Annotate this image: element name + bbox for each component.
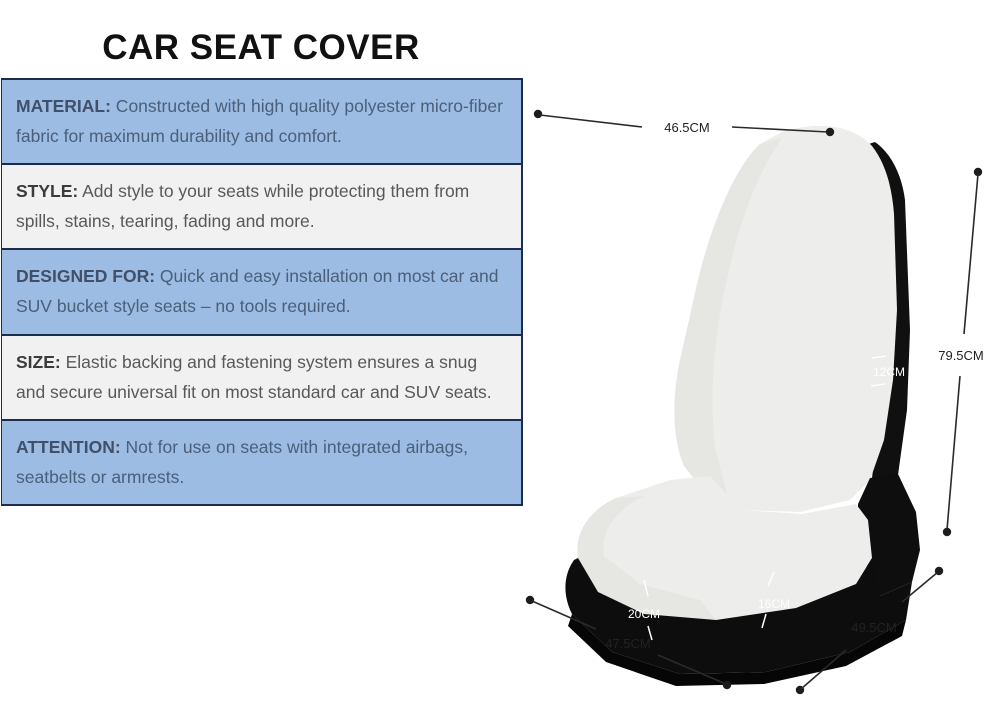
dimension-label-total-height: 79.5CM — [938, 348, 984, 363]
dimension-endpoint-dot — [935, 567, 943, 575]
dimension-total-height: 79.5CM — [938, 168, 984, 536]
feature-label: DESIGNED FOR: — [16, 266, 155, 286]
dimension-label-skirt-side: 16CM — [758, 597, 790, 611]
dimension-line — [964, 174, 978, 334]
dimension-endpoint-dot — [526, 596, 534, 604]
feature-label: ATTENTION: — [16, 437, 121, 457]
feature-block-material: MATERIAL: Constructed with high quality … — [1, 78, 523, 165]
infographic-page: CAR SEAT COVER MATERIAL: Constructed wit… — [0, 0, 1000, 708]
feature-body: Add style to your seats while protecting… — [16, 181, 469, 231]
feature-label: SIZE: — [16, 352, 61, 372]
dimension-label-top-width: 46.5CM — [664, 120, 710, 135]
dimension-endpoint-dot — [826, 128, 834, 136]
feature-body: Elastic backing and fastening system ens… — [16, 352, 492, 402]
seat-diagram: 46.5CM 79.5CM 12CM 20CM — [520, 80, 1000, 708]
feature-block-style: STYLE: Add style to your seats while pro… — [1, 163, 523, 250]
dimension-label-side-panel-width: 12CM — [873, 365, 905, 379]
dimension-label-seat-depth-left: 47.5CM — [605, 636, 651, 651]
seat-illustration — [565, 126, 920, 686]
feature-label: STYLE: — [16, 181, 78, 201]
dimension-label-skirt-front: 20CM — [628, 607, 660, 621]
feature-list: MATERIAL: Constructed with high quality … — [1, 78, 523, 506]
feature-label: MATERIAL: — [16, 96, 111, 116]
dimension-label-seat-depth-right: 49.5CM — [851, 620, 897, 635]
dimension-endpoint-dot — [943, 528, 951, 536]
feature-block-attention: ATTENTION: Not for use on seats with int… — [1, 419, 523, 506]
dimension-line — [947, 376, 960, 530]
feature-block-size: SIZE: Elastic backing and fastening syst… — [1, 334, 523, 421]
dimension-endpoint-dot — [534, 110, 542, 118]
dimension-line — [540, 115, 642, 127]
dimension-endpoint-dot — [723, 681, 731, 689]
feature-block-designed-for: DESIGNED FOR: Quick and easy installatio… — [1, 248, 523, 335]
page-title: CAR SEAT COVER — [96, 30, 426, 67]
